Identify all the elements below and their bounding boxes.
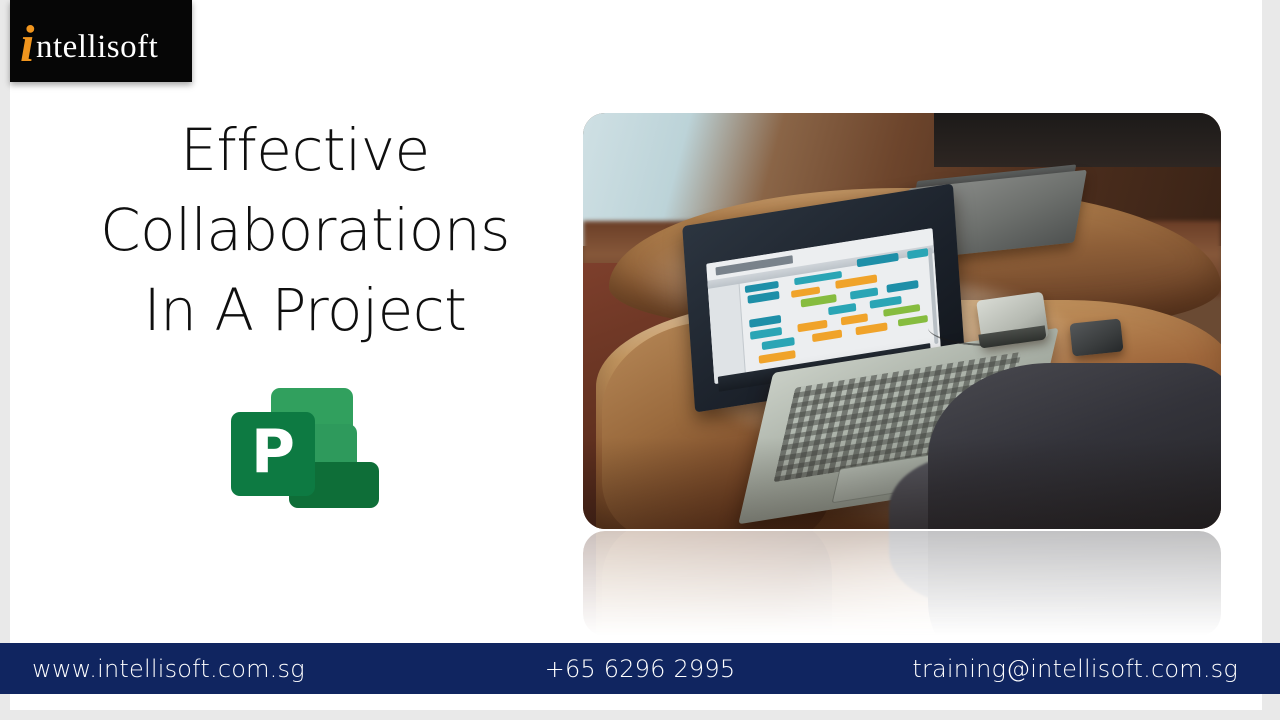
- gantt-bar: [887, 280, 919, 292]
- gantt-bar: [748, 292, 780, 304]
- left-content-column: Effective Collaborations In A Project P: [70, 110, 540, 550]
- scene-dark-shelf: [934, 113, 1221, 167]
- gantt-bar: [855, 323, 887, 335]
- title-line-3: In A Project: [70, 270, 540, 350]
- gantt-bar: [801, 295, 838, 308]
- gantt-bar: [749, 316, 781, 328]
- footer-email[interactable]: training@intellisoft.com.sg: [912, 655, 1238, 683]
- footer-contact-bar: www.intellisoft.com.sg +65 6296 2995 tra…: [0, 643, 1280, 694]
- photo-scene-reflection: [583, 531, 1221, 636]
- logo-text: ntellisoft: [36, 31, 158, 64]
- person-lap-reflection: [928, 531, 1221, 636]
- slide-frame: intellisoft Effective Collaborations In …: [0, 0, 1280, 720]
- title-line-2: Collaborations: [70, 190, 540, 270]
- hero-photo-image: [583, 113, 1221, 529]
- gantt-bar: [884, 304, 921, 317]
- page-title: Effective Collaborations In A Project: [70, 110, 540, 350]
- microsoft-project-logo-icon: P: [229, 386, 381, 508]
- title-line-1: Effective: [70, 110, 540, 190]
- gantt-bar: [841, 314, 869, 326]
- gantt-bar: [762, 338, 794, 350]
- gantt-bar: [750, 328, 782, 340]
- gantt-bar: [829, 304, 857, 316]
- gantt-bar: [907, 249, 928, 260]
- project-logo-letter: P: [251, 422, 295, 482]
- scene-bottom-shadow: [583, 437, 1221, 529]
- black-power-bank: [1069, 318, 1123, 356]
- company-logo[interactable]: intellisoft: [10, 0, 192, 82]
- gantt-bar: [759, 351, 796, 364]
- slide-canvas: intellisoft Effective Collaborations In …: [10, 0, 1262, 710]
- logo-i-glyph-icon: i: [20, 19, 35, 71]
- gantt-bar: [898, 315, 928, 327]
- hero-photo-reflection: [583, 531, 1221, 636]
- gantt-bar: [836, 275, 877, 289]
- hero-photo: [583, 113, 1221, 529]
- logo-wordmark: intellisoft: [20, 15, 158, 67]
- gantt-bar: [812, 330, 842, 342]
- photo-scene: [583, 113, 1221, 529]
- gantt-bar: [798, 320, 828, 332]
- gantt-bar: [851, 288, 879, 300]
- project-logo-tile-letter: P: [231, 412, 315, 496]
- hero-photo-reflection-inner: [583, 531, 1221, 636]
- gantt-task-column: [708, 276, 747, 384]
